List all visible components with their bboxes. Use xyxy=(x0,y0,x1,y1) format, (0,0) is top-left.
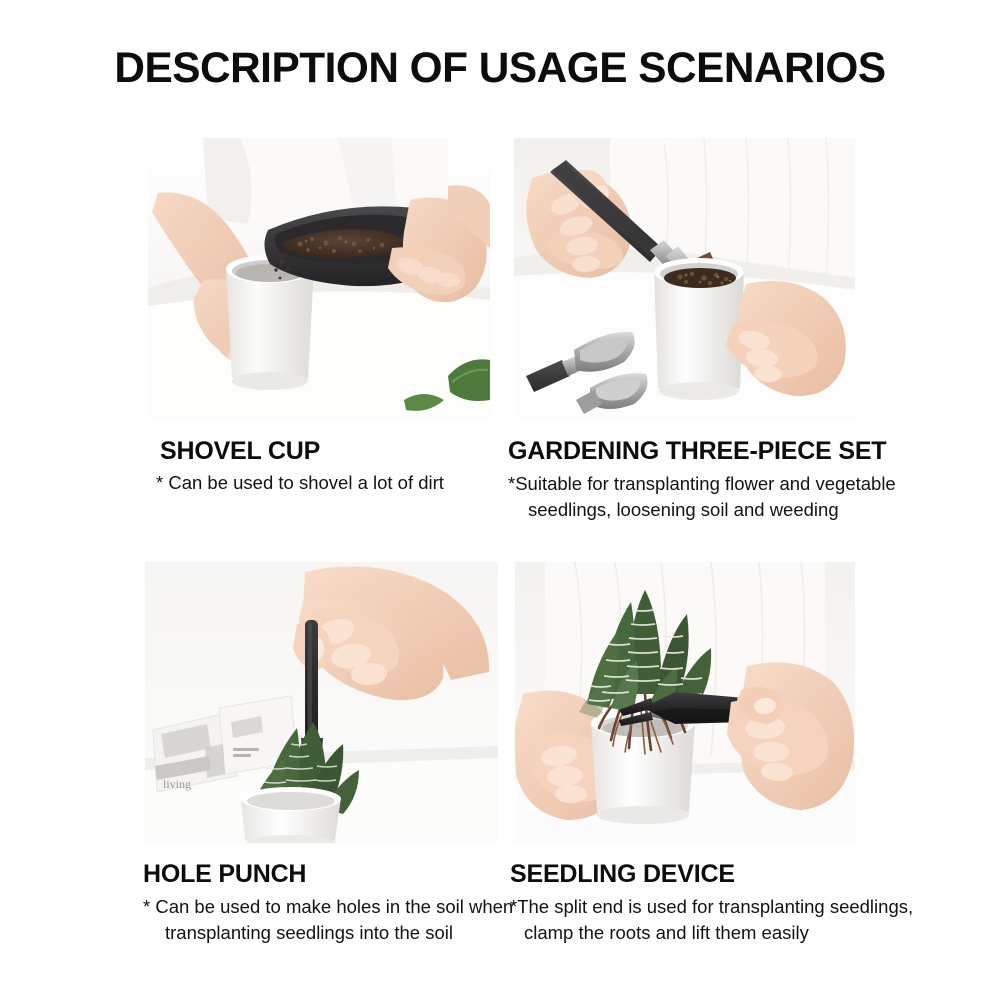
subtitle-line-2: clamp the roots and lift them easily xyxy=(524,920,935,946)
photo-shovel-cup xyxy=(148,138,490,419)
page-title: DESCRIPTION OF USAGE SCENARIOS xyxy=(8,46,993,91)
panel-grid: SHOVEL CUP * Can be used to shovel a lot… xyxy=(0,130,1000,970)
panel-title-seedling-device: SEEDLING DEVICE xyxy=(510,860,935,889)
panel-subtitle-gardening-three-piece-set: *Suitable for transplanting flower and v… xyxy=(508,471,935,524)
panel-subtitle-seedling-device: *The split end is used for transplanting… xyxy=(510,894,935,947)
subtitle-line-1: *Suitable for transplanting flower and v… xyxy=(508,473,896,494)
svg-text:living: living xyxy=(163,777,191,791)
photo-gardening-three-piece-set xyxy=(514,138,855,419)
panel-gardening-three-piece-set: GARDENING THREE-PIECE SET *Suitable for … xyxy=(505,138,935,524)
photo-seedling-device xyxy=(515,562,855,843)
photo-hole-punch: living xyxy=(145,562,498,843)
subtitle-line-1: *The split end is used for transplanting… xyxy=(510,896,913,917)
panel-title-gardening-three-piece-set: GARDENING THREE-PIECE SET xyxy=(508,437,935,466)
panel-title-hole-punch: HOLE PUNCH xyxy=(143,860,565,889)
panel-seedling-device: SEEDLING DEVICE *The split end is used f… xyxy=(505,562,935,947)
panel-hole-punch: living xyxy=(135,562,565,947)
panel-subtitle-hole-punch: * Can be used to make holes in the soil … xyxy=(143,894,565,947)
subtitle-line-2: seedlings, loosening soil and weeding xyxy=(528,497,935,523)
subtitle-line-1: * Can be used to make holes in the soil … xyxy=(143,896,513,917)
